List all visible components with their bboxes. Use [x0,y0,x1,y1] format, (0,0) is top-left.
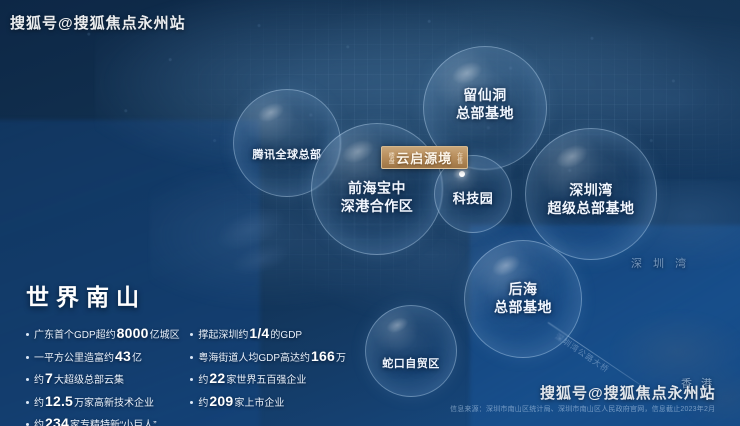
list-item: 广东首个GDP超约8000亿城区 [26,325,184,342]
bullet-text-pre: 约 [34,420,44,426]
list-item: 粤海街道人均GDP高达约166万 [190,348,346,365]
island-shape-a [211,200,290,258]
bullet-number: 1/4 [248,325,270,341]
bullet-text-pre: 粤海街道人均GDP高达约 [198,353,310,364]
map-bubble-qianhai-baozhong[interactable]: 前海宝中 深港合作区 [311,123,443,255]
bubble-label-keji-park: 科技园 [453,191,494,207]
bullet-number: 209 [208,393,234,409]
info-panel: 世界南山 广东首个GDP超约8000亿城区 一平方公里造富约43亿 约7大超级总… [0,262,360,426]
bullet-text-post: 家世界五百强企业 [226,375,306,386]
bullet-text-pre: 约 [198,375,208,386]
panel-title: 世界南山 [26,278,346,312]
bullet-text-pre: 一平方公里造富约 [34,353,114,364]
bullet-dot-icon [190,401,193,404]
plaque-seal-left-icon: 楼盘 [387,152,393,164]
bullet-dot-icon [190,356,193,359]
bullet-number: 43 [114,348,132,364]
bullet-text-pre: 撑起深圳约 [198,330,248,341]
bubble-label-qianhai-baozhong: 前海宝中 深港合作区 [341,180,414,215]
list-item: 约234家专精特新“小巨人” [26,415,184,426]
bullet-text-post: 家上市企业 [234,398,284,409]
list-item: 约209家上市企业 [190,393,346,410]
bullet-columns: 广东首个GDP超约8000亿城区 一平方公里造富约43亿 约7大超级总部云集 约… [26,325,346,426]
bullet-number: 22 [208,370,226,386]
bullet-number: 7 [44,370,54,386]
bullet-text-post: 家专精特新“小巨人” [70,420,157,426]
list-item: 一平方公里造富约43亿 [26,348,184,365]
bullet-dot-icon [26,378,29,381]
list-item: 撑起深圳约1/4的GDP [190,325,346,342]
bubble-label-liuxiandong: 留仙洞 总部基地 [456,87,514,122]
bullet-dot-icon [26,333,29,336]
bullet-text-post: 万 [336,353,346,364]
bullet-dot-icon [190,378,193,381]
bullet-text-post: 亿 [132,353,142,364]
bullet-number: 234 [44,415,70,426]
bullet-dot-icon [26,356,29,359]
watermark-bottom: 搜狐号@搜狐焦点永州站 [540,382,716,403]
watermark-top: 搜狐号@搜狐焦点永州站 [10,12,186,33]
bubble-label-houhai: 后海 总部基地 [494,281,552,316]
bullet-text-post: 亿城区 [150,330,180,341]
source-note: 信息来源：深圳市南山区统计局、深圳市南山区人民政府官网，信息截止2023年2月 [450,404,715,414]
bubble-label-shenzhen-bay-hq: 深圳湾 超级总部基地 [548,182,635,217]
bullet-text-pre: 约 [198,398,208,409]
poster-canvas: 深圳湾公路大桥 深 圳 湾 香 港 腾讯全球总部 前海宝中 深港合作区 留仙洞 … [0,0,740,426]
bullet-number: 12.5 [44,393,74,409]
bullet-text-post: 万家高新技术企业 [74,398,154,409]
project-name-plaque[interactable]: 楼盘 云启源境 在售 [381,146,468,169]
bullet-number: 8000 [116,325,150,341]
bullet-text-pre: 约 [34,375,44,386]
list-item: 约7大超级总部云集 [26,370,184,387]
bullet-text-post: 的GDP [270,330,302,341]
bullet-number: 166 [310,348,336,364]
list-item: 约22家世界五百强企业 [190,370,346,387]
map-label-shenzhen-bay: 深 圳 湾 [631,255,690,271]
bullet-dot-icon [190,333,193,336]
bullet-text-post: 大超级总部云集 [54,375,124,386]
map-bubble-shekou-ftz[interactable]: 蛇口自贸区 [365,305,457,397]
bubble-label-tencent-hq: 腾讯全球总部 [253,149,322,163]
bullet-text-pre: 约 [34,398,44,409]
map-bubble-houhai[interactable]: 后海 总部基地 [464,240,582,358]
project-site-marker-dot [459,171,465,177]
map-bubble-shenzhen-bay-hq[interactable]: 深圳湾 超级总部基地 [525,128,657,260]
plaque-seal-right-icon: 在售 [455,152,461,164]
list-item: 约12.5万家高新技术企业 [26,393,184,410]
bubble-label-shekou-ftz: 蛇口自贸区 [382,358,440,372]
bullet-column-right: 撑起深圳约1/4的GDP 粤海街道人均GDP高达约166万 约22家世界五百强企… [190,325,346,426]
bullet-column-left: 广东首个GDP超约8000亿城区 一平方公里造富约43亿 约7大超级总部云集 约… [26,325,184,426]
plaque-project-name: 云启源境 [396,148,452,167]
bullet-text-pre: 广东首个GDP超约 [34,330,116,341]
bullet-dot-icon [26,401,29,404]
